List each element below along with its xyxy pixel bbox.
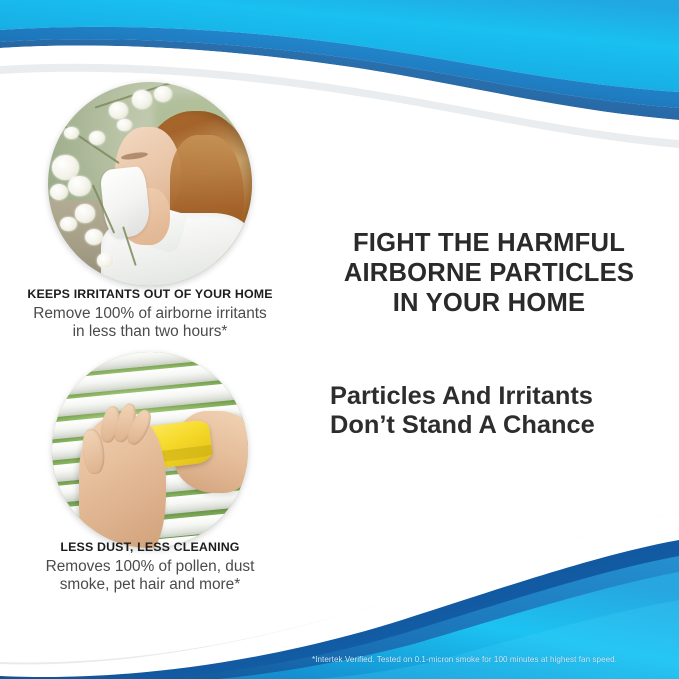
bottom-wave-sheen	[300, 600, 679, 679]
subhead-line-2: Don’t Stand A Chance	[330, 411, 595, 439]
feature-1-body: Remove 100% of airborne irritants in les…	[0, 305, 300, 341]
feature-1-title: KEEPS IRRITANTS OUT OF YOUR HOME	[0, 287, 300, 303]
features-column: KEEPS IRRITANTS OUT OF YOUR HOME Remove …	[0, 0, 300, 679]
photo2-left-hand	[79, 415, 165, 548]
feature-2-body-line2: smoke, pet hair and more*	[60, 576, 241, 593]
photo1-blossom	[97, 253, 113, 267]
feature-2-image-block	[0, 352, 300, 548]
feature-2-title: LESS DUST, LESS CLEANING	[0, 540, 300, 556]
photo1-blossom	[64, 127, 78, 139]
photo1-blossom	[68, 176, 90, 196]
footnote-text: *Intertek Verified. Tested on 0.1-micron…	[312, 655, 679, 664]
feature-1-body-line2: in less than two hours*	[73, 323, 228, 340]
photo1-blossom	[109, 102, 127, 118]
woman-sneezing-photo	[48, 82, 252, 286]
headline-line-3: IN YOUR HOME	[393, 289, 585, 317]
photo1-tissue	[100, 166, 152, 240]
feature-2-caption: LESS DUST, LESS CLEANING Removes 100% of…	[0, 540, 300, 594]
photo1-blossom	[75, 204, 95, 222]
sub-headline: Particles And Irritants Don’t Stand A Ch…	[330, 382, 670, 440]
subhead-line-1: Particles And Irritants	[330, 382, 593, 410]
main-headline: FIGHT THE HARMFUL AIRBORNE PARTICLES IN …	[315, 228, 663, 319]
feature-1-caption: KEEPS IRRITANTS OUT OF YOUR HOME Remove …	[0, 287, 300, 341]
headline-line-2: AIRBORNE PARTICLES	[344, 259, 634, 287]
photo1-blossom	[132, 90, 152, 108]
feature-2-body: Removes 100% of pollen, dust smoke, pet …	[0, 558, 300, 594]
headline-line-1: FIGHT THE HARMFUL	[353, 229, 625, 257]
photo1-blossom	[60, 217, 76, 231]
feature-1-image-block	[0, 82, 300, 286]
photo1-blossom	[117, 119, 131, 131]
feature-2-body-line1: Removes 100% of pollen, dust	[46, 558, 255, 575]
feature-1-body-line1: Remove 100% of airborne irritants	[33, 305, 267, 322]
product-infographic-canvas: KEEPS IRRITANTS OUT OF YOUR HOME Remove …	[0, 0, 679, 679]
hands-cleaning-blinds-photo	[52, 352, 248, 548]
